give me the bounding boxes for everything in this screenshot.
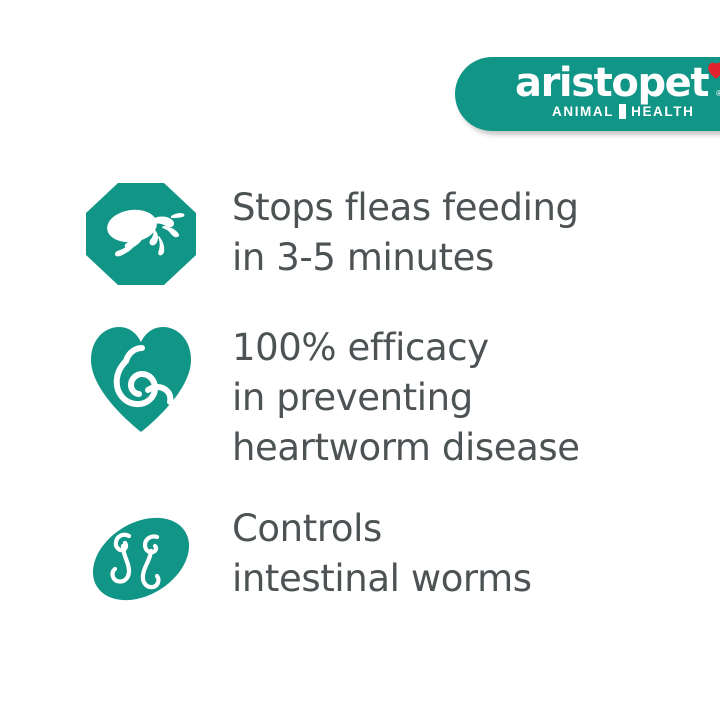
brand-wordmark: aristopet xyxy=(515,61,708,105)
feature-icon-wrap xyxy=(85,182,197,286)
flea-octagon-icon xyxy=(85,182,197,286)
feature-item-fleas: Stops fleas feeding in 3-5 minutes xyxy=(85,182,685,286)
feature-text-heartworm: 100% efficacy in preventing heartworm di… xyxy=(232,322,580,473)
feature-text-intestinal-worms: Controls intestinal worms xyxy=(232,503,532,604)
brand-bar-content: aristopet ® ANIMAL HEALTH xyxy=(515,57,720,131)
brand-tagline-divider xyxy=(619,104,626,119)
heart-icon xyxy=(705,59,720,81)
feature-icon-wrap xyxy=(85,322,197,434)
feature-item-intestinal-worms: Controls intestinal worms xyxy=(85,503,685,615)
feature-list: Stops fleas feeding in 3-5 minutes 100% … xyxy=(85,182,685,647)
intestinal-worms-ellipse-icon xyxy=(85,503,197,615)
registered-trademark-mark: ® xyxy=(716,89,720,98)
heartworm-heart-icon xyxy=(85,322,197,434)
feature-text-fleas: Stops fleas feeding in 3-5 minutes xyxy=(232,182,579,283)
brand-tagline-health: HEALTH xyxy=(631,104,694,119)
brand-bar: aristopet ® ANIMAL HEALTH xyxy=(455,57,720,131)
feature-item-heartworm: 100% efficacy in preventing heartworm di… xyxy=(85,322,685,473)
brand-tagline: ANIMAL HEALTH xyxy=(552,104,694,119)
feature-icon-wrap xyxy=(85,503,197,615)
brand-tagline-animal: ANIMAL xyxy=(552,104,614,119)
